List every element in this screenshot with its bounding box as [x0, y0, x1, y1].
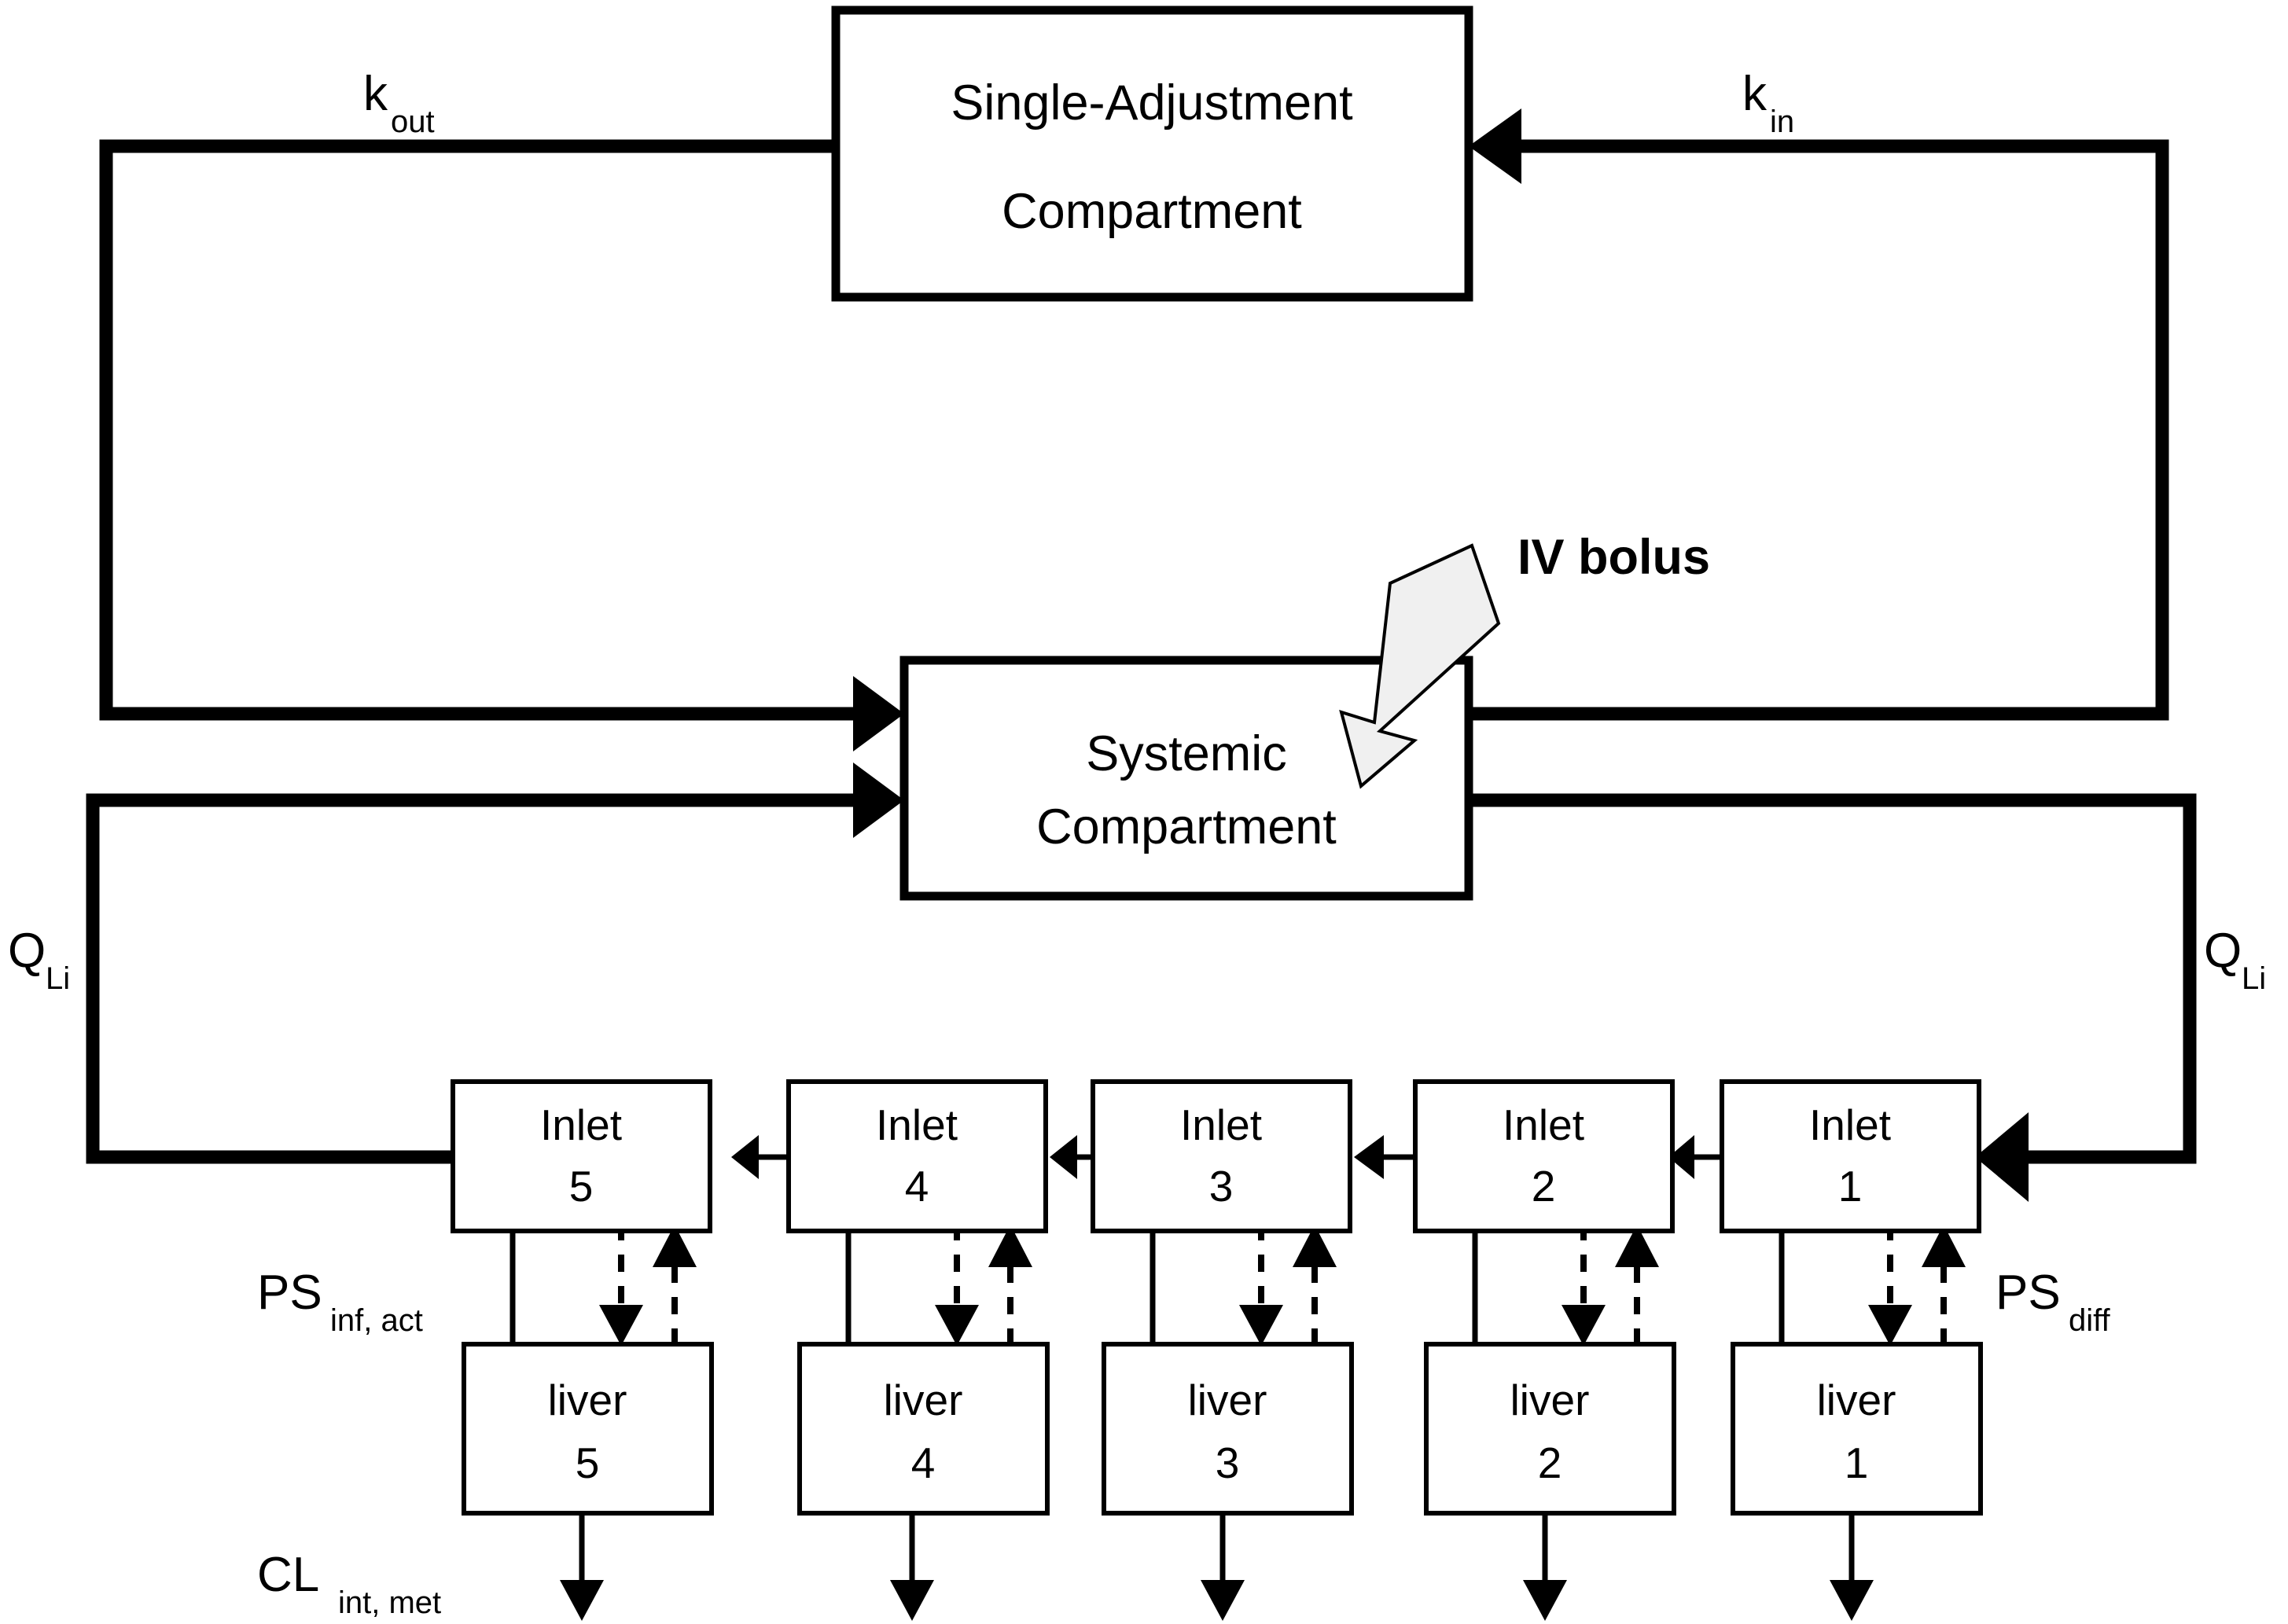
inlet-box-3-index: 3: [1209, 1162, 1234, 1211]
cl-int-met-arrow-5: [560, 1513, 604, 1621]
label-k-out: k out: [363, 67, 435, 139]
liver-box-1[interactable]: [1733, 1344, 1981, 1513]
label-ps-inf-act: PS inf, act: [257, 1266, 423, 1338]
liver-unit-5: Inlet 5 liver 5: [453, 1082, 712, 1621]
liver-box-4[interactable]: [800, 1344, 1047, 1513]
inlet-box-3-label: Inlet: [1180, 1100, 1262, 1149]
ps-diff-efflux-arrow-3: [1293, 1225, 1337, 1346]
label-q-li-right: Q Li: [2204, 924, 2266, 996]
systemic-compartment-line1: Systemic: [1086, 726, 1287, 781]
liver-box-4-label: liver: [884, 1376, 963, 1424]
label-k-in: k in: [1742, 67, 1794, 139]
liver-box-3-label: liver: [1188, 1376, 1267, 1424]
ps-diff-efflux-arrow-2: [1615, 1225, 1659, 1346]
inlet-box-2-label: Inlet: [1503, 1100, 1584, 1149]
inlet-box-4-index: 4: [905, 1162, 929, 1211]
liver-unit-3: Inlet 3 liver 3: [1093, 1082, 1352, 1621]
inlet-box-5-index: 5: [569, 1162, 594, 1211]
inlet-chain-arrow-3-to-4: [1050, 1135, 1093, 1179]
label-q-li-right-sub: Li: [2242, 961, 2266, 996]
iv-bolus-label: IV bolus: [1517, 530, 1710, 585]
ps-diff-efflux-arrow-4: [988, 1225, 1032, 1346]
label-cl-int-met: CL int, met: [257, 1548, 441, 1620]
ps-diff-efflux-arrow-1: [1922, 1225, 1966, 1346]
diagram-canvas: Inlet 5 liver 5 Inlet 4 liver 4: [0, 0, 2288, 1624]
liver-box-2-label: liver: [1510, 1376, 1590, 1424]
label-ps-inf-act-sub: inf, act: [330, 1303, 423, 1338]
label-q-li-left-base: Q: [8, 924, 46, 978]
liver-box-1-label: liver: [1817, 1376, 1896, 1424]
label-k-in-sub: in: [1770, 105, 1794, 139]
label-cl-int-met-base: CL: [257, 1548, 319, 1602]
single-adjustment-compartment-box[interactable]: [836, 10, 1469, 297]
k-in-arrowhead: [1469, 108, 1521, 184]
q-li-right-arrowhead: [1975, 1112, 2029, 1202]
inlet-chain-arrow-2-to-3: [1354, 1135, 1415, 1179]
systemic-compartment-line2: Compartment: [1036, 799, 1337, 854]
label-ps-diff: PS diff: [1996, 1266, 2111, 1338]
k-out-flow-path: [106, 146, 904, 751]
k-in-flow-path: [1464, 108, 2162, 714]
cl-int-met-arrow-1: [1830, 1513, 1874, 1621]
label-ps-diff-sub: diff: [2069, 1303, 2111, 1338]
liver-unit-2: Inlet 2 liver 2: [1415, 1082, 1674, 1621]
liver-box-2[interactable]: [1426, 1344, 1674, 1513]
liver-box-4-index: 4: [911, 1438, 936, 1487]
label-ps-diff-base: PS: [1996, 1266, 2061, 1320]
inlet-box-4-label: Inlet: [876, 1100, 958, 1149]
liver-box-5-index: 5: [576, 1438, 600, 1487]
k-out-arrowhead: [853, 676, 904, 751]
label-cl-int-met-sub: int, met: [338, 1585, 441, 1620]
single-adjustment-compartment[interactable]: Single-Adjustment Compartment: [836, 10, 1469, 297]
cl-int-met-arrow-4: [890, 1513, 934, 1621]
liver-box-5[interactable]: [464, 1344, 712, 1513]
ps-diff-efflux-arrow-5: [653, 1225, 697, 1346]
ps-diff-influx-arrow-1: [1868, 1223, 1912, 1346]
ps-diff-influx-arrow-3: [1239, 1223, 1283, 1346]
ps-diff-influx-arrow-4: [935, 1223, 979, 1346]
single-adjustment-compartment-line2: Compartment: [1002, 184, 1302, 239]
liver-box-2-index: 2: [1538, 1438, 1562, 1487]
label-q-li-left: Q Li: [8, 924, 70, 996]
label-k-out-base: k: [363, 67, 388, 121]
single-adjustment-compartment-line1: Single-Adjustment: [951, 75, 1353, 130]
label-k-in-base: k: [1742, 67, 1767, 121]
inlet-box-5-label: Inlet: [540, 1100, 622, 1149]
ps-diff-influx-arrow-5: [599, 1223, 643, 1346]
liver-unit-4: Inlet 4 liver 4: [789, 1082, 1047, 1621]
inlet-chain-arrow-1-to-2: [1668, 1135, 1722, 1179]
q-li-left-arrowhead: [853, 762, 904, 838]
inlet-box-2-index: 2: [1532, 1162, 1556, 1211]
liver-unit-1: Inlet 1 liver 1: [1722, 1082, 1981, 1621]
label-q-li-left-sub: Li: [46, 961, 70, 996]
liver-box-1-index: 1: [1845, 1438, 1869, 1487]
liver-box-3-index: 3: [1216, 1438, 1240, 1487]
pbpk-model-diagram: Inlet 5 liver 5 Inlet 4 liver 4: [0, 0, 2288, 1624]
inlet-box-1-label: Inlet: [1809, 1100, 1891, 1149]
ps-diff-influx-arrow-2: [1562, 1223, 1606, 1346]
label-ps-inf-act-base: PS: [257, 1266, 322, 1320]
label-k-out-sub: out: [391, 105, 435, 139]
liver-box-3[interactable]: [1104, 1344, 1352, 1513]
inlet-chain-arrow-4-to-5: [731, 1135, 789, 1179]
label-q-li-right-base: Q: [2204, 924, 2242, 978]
cl-int-met-arrow-2: [1523, 1513, 1567, 1621]
liver-box-5-label: liver: [548, 1376, 627, 1424]
cl-int-met-arrow-3: [1201, 1513, 1245, 1621]
inlet-box-1-index: 1: [1838, 1162, 1863, 1211]
